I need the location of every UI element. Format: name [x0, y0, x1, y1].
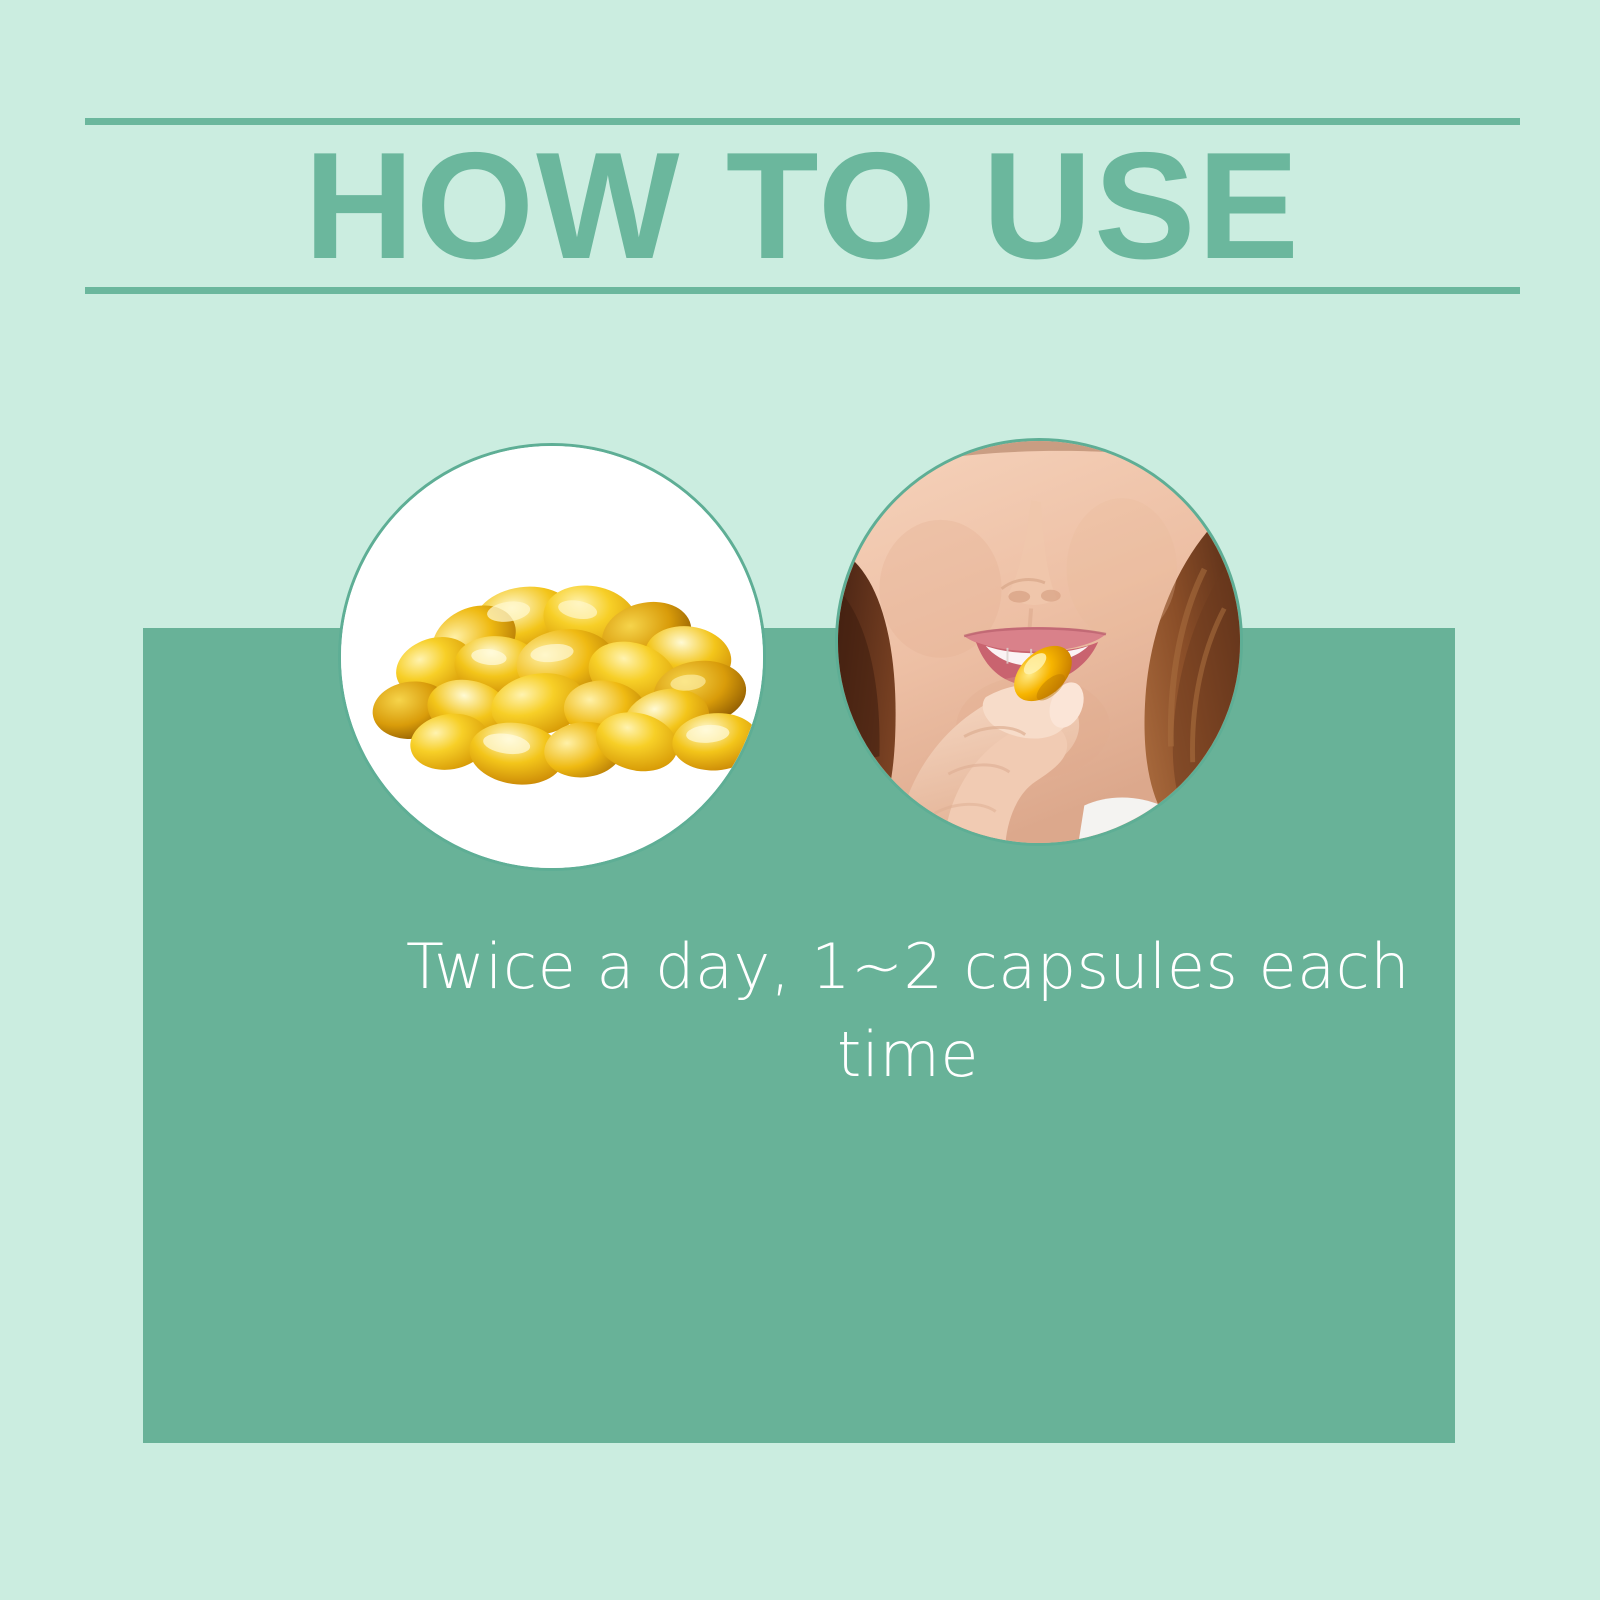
title-rule-bottom	[85, 287, 1520, 294]
instruction-panel: Twice a day, 1~2 capsules each time	[143, 628, 1455, 1443]
how-to-use-card: HOW TO USE Twice a day, 1~2 capsules eac…	[0, 0, 1600, 1600]
capsules-illustration	[341, 446, 763, 868]
title-block: HOW TO USE	[85, 112, 1520, 300]
page-title: HOW TO USE	[85, 118, 1520, 294]
woman-illustration	[838, 441, 1240, 843]
capsules-photo	[338, 443, 766, 871]
usage-caption: Twice a day, 1~2 capsules each time	[333, 923, 1483, 1099]
woman-taking-capsule-photo	[835, 438, 1243, 846]
